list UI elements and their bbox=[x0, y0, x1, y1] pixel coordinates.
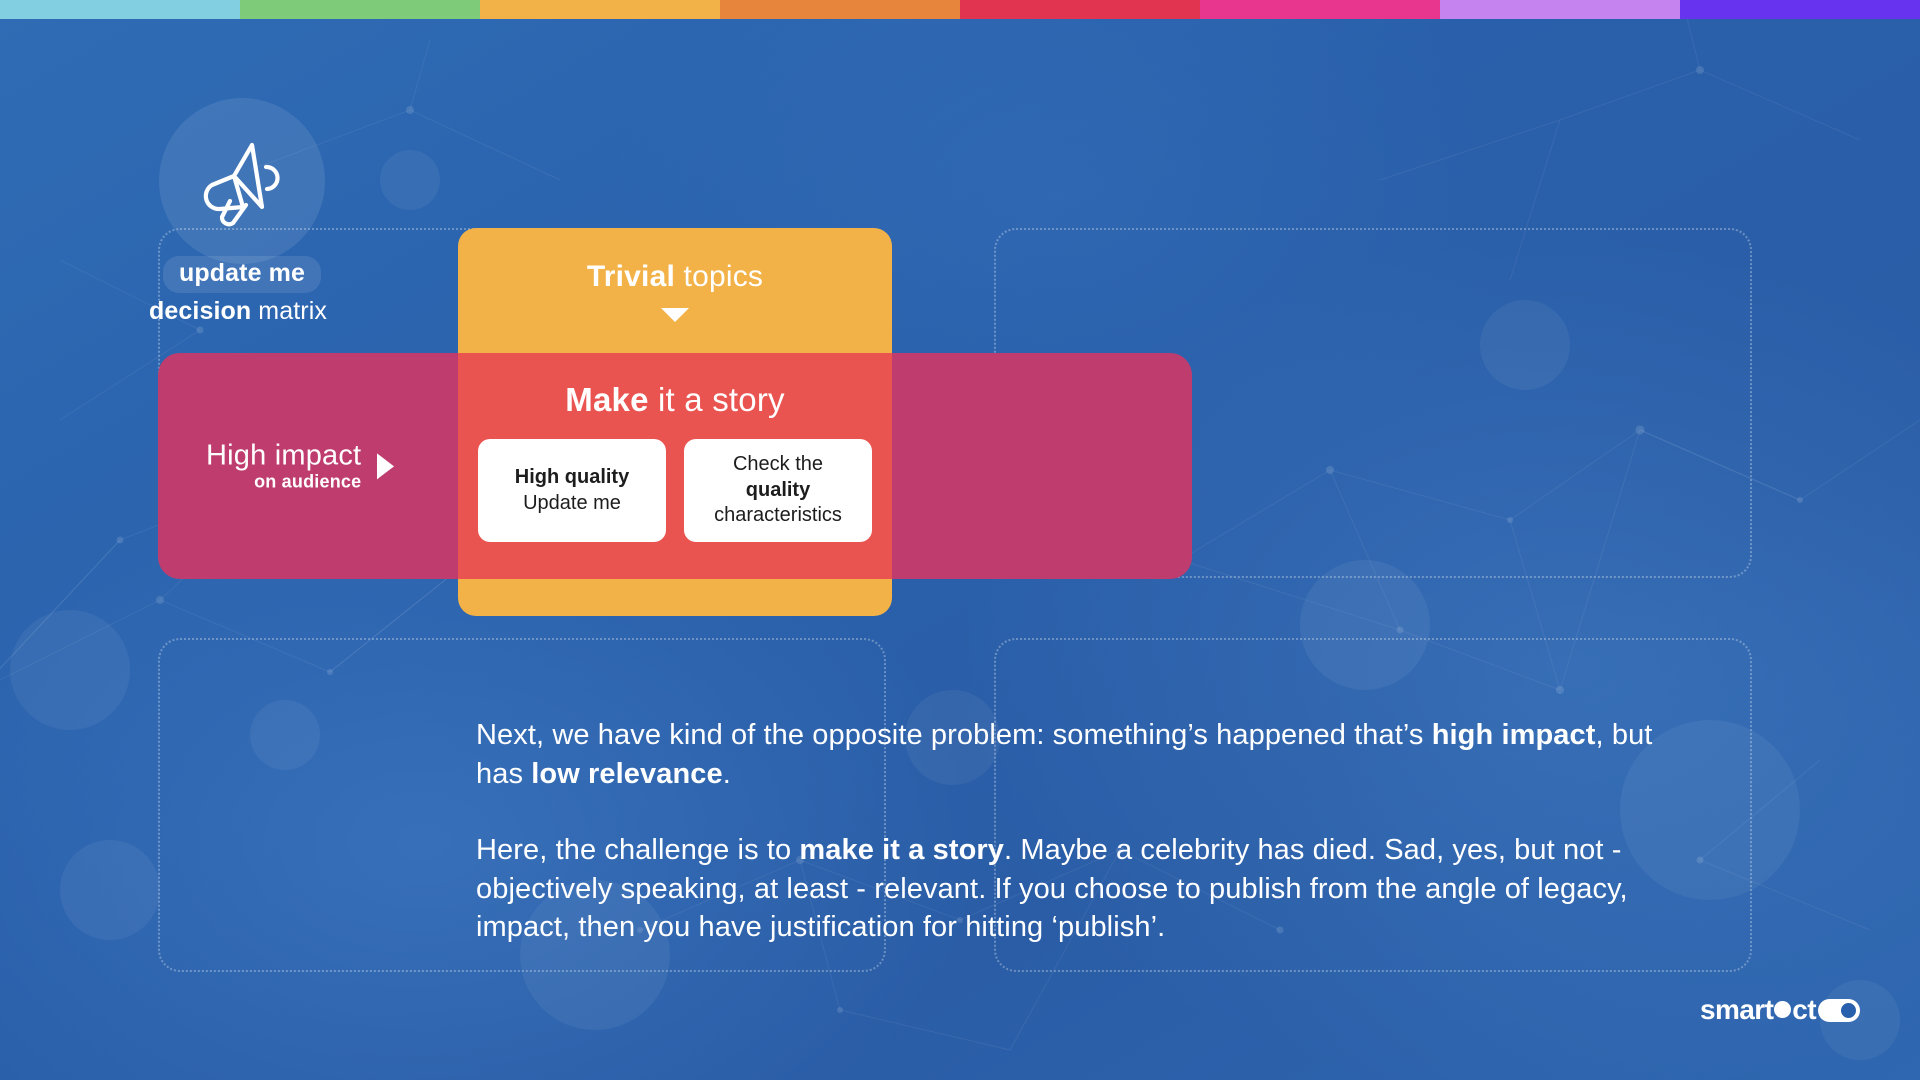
brand-subtitle: decision matrix bbox=[148, 297, 328, 326]
paragraph-1: Next, we have kind of the opposite probl… bbox=[476, 716, 1656, 793]
p2-bold-1: make it a story bbox=[799, 834, 1004, 866]
brand-pill-label: update me bbox=[179, 259, 305, 287]
action-card-1-line1: High quality bbox=[515, 465, 629, 491]
p2-text-1: Here, the challenge is to bbox=[476, 834, 799, 866]
make-it-a-story-title: Make it a story bbox=[458, 381, 892, 419]
triangle-right-icon bbox=[377, 453, 394, 479]
p1-text-1: Next, we have kind of the opposite probl… bbox=[476, 719, 1432, 751]
color-swatch-6 bbox=[1200, 0, 1440, 19]
action-card-quality-characteristics[interactable]: Check the quality characteristics bbox=[684, 439, 872, 542]
make-it-a-story-card[interactable]: Make it a story High quality Update me C… bbox=[458, 353, 892, 579]
action-card-1-line2: Update me bbox=[523, 491, 621, 517]
megaphone-icon bbox=[159, 98, 325, 264]
smartocto-part1: smart bbox=[1700, 994, 1773, 1026]
action-card-high-quality[interactable]: High quality Update me bbox=[478, 439, 666, 542]
action-card-2-line1: Check the bbox=[733, 452, 823, 478]
high-impact-label-line2: on audience bbox=[206, 473, 361, 492]
p1-bold-1: high impact bbox=[1432, 719, 1596, 751]
paragraph-2: Here, the challenge is to make it a stor… bbox=[476, 831, 1656, 947]
body-copy: Next, we have kind of the opposite probl… bbox=[476, 716, 1656, 947]
brand-block: update me decision matrix bbox=[152, 98, 332, 326]
brand-subtitle-bold: decision bbox=[149, 297, 251, 325]
high-impact-label-group: High impact on audience bbox=[158, 440, 394, 491]
color-swatch-2 bbox=[240, 0, 480, 19]
action-card-2-line3: characteristics bbox=[714, 503, 842, 529]
color-strip bbox=[0, 0, 1920, 19]
circle-dot-icon bbox=[1774, 1001, 1791, 1018]
trivial-topics-label-rest: topics bbox=[675, 260, 763, 293]
high-impact-label: High impact on audience bbox=[206, 440, 361, 491]
color-swatch-3 bbox=[480, 0, 720, 19]
make-it-a-story-title-rest: it a story bbox=[649, 381, 785, 418]
smartocto-part2: ct bbox=[1792, 994, 1816, 1026]
brand-pill: update me bbox=[163, 256, 321, 293]
action-card-2-line2: quality bbox=[746, 478, 810, 504]
trivial-topics-label: Trivial topics bbox=[458, 260, 892, 294]
triangle-down-icon bbox=[661, 308, 689, 322]
color-swatch-8 bbox=[1680, 0, 1920, 19]
color-swatch-4 bbox=[720, 0, 960, 19]
smartocto-wordmark: smart ct bbox=[1700, 994, 1860, 1026]
color-swatch-1 bbox=[0, 0, 240, 19]
smartocto-logo: smart ct bbox=[1700, 994, 1860, 1026]
trivial-topics-label-bold: Trivial bbox=[587, 260, 675, 293]
p1-text-3: . bbox=[723, 758, 731, 790]
p1-bold-2: low relevance bbox=[531, 758, 723, 790]
brand-subtitle-rest: matrix bbox=[251, 297, 327, 325]
action-card-list: High quality Update me Check the quality… bbox=[458, 439, 892, 542]
color-swatch-7 bbox=[1440, 0, 1680, 19]
make-it-a-story-title-bold: Make bbox=[565, 381, 648, 418]
toggle-icon bbox=[1818, 999, 1860, 1022]
color-swatch-5 bbox=[960, 0, 1200, 19]
high-impact-label-line1: High impact bbox=[206, 440, 361, 470]
